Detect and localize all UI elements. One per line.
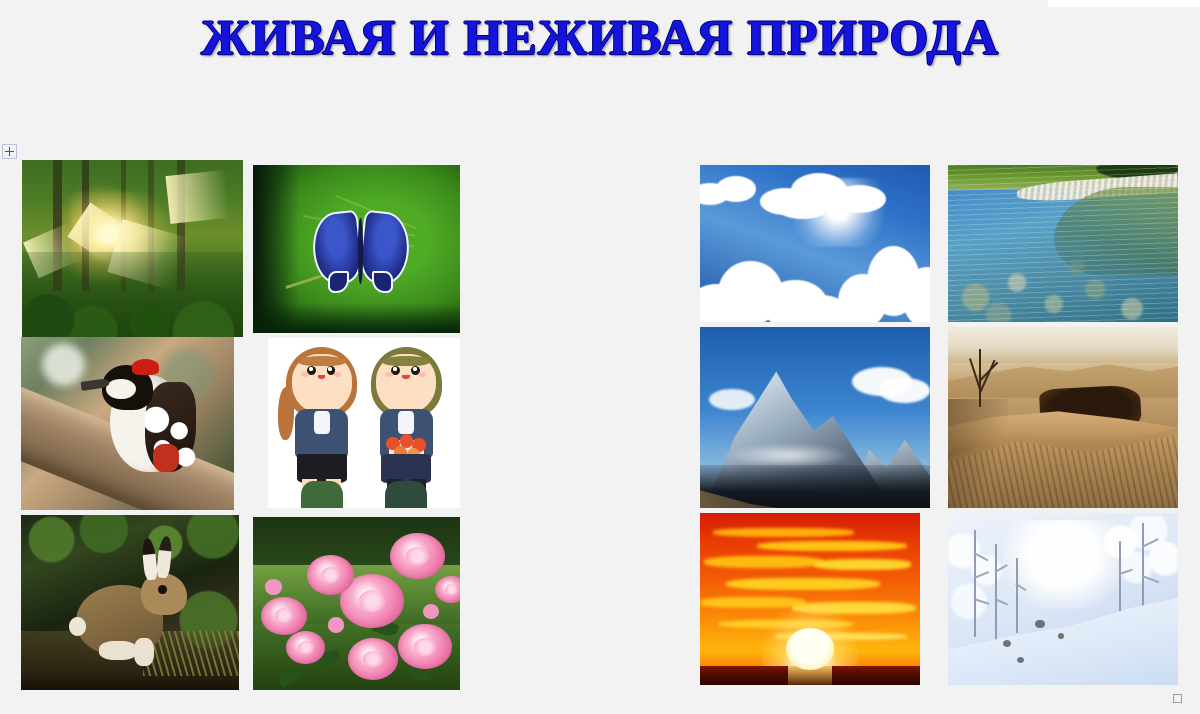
- picture-roses[interactable]: [253, 517, 460, 690]
- roses-artwork: [253, 517, 460, 690]
- picture-children[interactable]: [268, 338, 460, 508]
- cloud-group-bottom: [700, 253, 847, 322]
- boy-blush-right: [418, 372, 426, 377]
- cloud-puff: [778, 199, 827, 219]
- tree-trunk: [1016, 558, 1018, 634]
- sunset-cloud-band: [726, 578, 880, 590]
- hare-front-leg: [134, 638, 154, 666]
- girl-shoe-right: [310, 481, 342, 508]
- tree-branch: [1142, 575, 1160, 583]
- sunset-cloud-band: [757, 541, 907, 551]
- butterfly-shape: [313, 212, 408, 304]
- girl-face: [292, 354, 352, 413]
- boy-blush-left: [385, 372, 393, 377]
- girl-ponytail: [278, 387, 294, 440]
- boy-fringe: [382, 356, 430, 366]
- boy-trousers: [381, 454, 431, 482]
- dead-tree: [962, 349, 999, 407]
- river-artwork: [948, 165, 1178, 322]
- butterfly-hindwing-left: [328, 271, 349, 293]
- tree-trunk: [995, 544, 997, 640]
- dark-spot: [1058, 633, 1064, 638]
- girl-mouth: [318, 375, 326, 379]
- butterfly-hindwing-right: [372, 271, 393, 293]
- page-title: ЖИВАЯ И НЕЖИВАЯ ПРИРОДА: [0, 8, 1200, 66]
- rose-bloom: [261, 597, 307, 635]
- boy-face: [376, 354, 436, 413]
- picture-hare[interactable]: [21, 515, 239, 690]
- cloud-group-top: [760, 171, 889, 221]
- boy-shoe-right: [395, 481, 427, 508]
- sunset-cloud-band: [704, 556, 823, 568]
- picture-winter[interactable]: [948, 513, 1178, 685]
- resize-square-icon[interactable]: [1173, 694, 1182, 703]
- forest-artwork: [22, 160, 243, 337]
- rose-leaf: [276, 664, 304, 688]
- rose-bud: [328, 617, 345, 633]
- winter-artwork: [948, 513, 1178, 685]
- picture-butterfly[interactable]: [253, 165, 460, 333]
- cloud-puff: [879, 378, 930, 403]
- picture-desert[interactable]: [948, 327, 1178, 508]
- sunset-artwork: [700, 513, 920, 685]
- hare-tail: [69, 617, 86, 636]
- hare-eye: [158, 585, 167, 594]
- girl-shirt: [314, 411, 330, 434]
- picture-sunset[interactable]: [700, 513, 920, 685]
- undergrowth: [22, 252, 243, 337]
- water-ripples: [948, 165, 1178, 322]
- mountain-artwork: [700, 327, 930, 508]
- bird-red-cap: [132, 359, 160, 375]
- cloud-group-right: [838, 240, 930, 322]
- rose-bloom: [307, 555, 355, 595]
- bare-tree: [1003, 558, 1031, 634]
- sky-artwork: [700, 165, 930, 322]
- rose-bloom: [398, 624, 452, 669]
- boy-mouth: [402, 375, 410, 379]
- butterfly-artwork: [253, 165, 460, 333]
- cloud-group-left: [700, 174, 760, 209]
- child-boy: [366, 347, 447, 503]
- bird-red-vent: [153, 444, 179, 472]
- children-artwork: [268, 338, 460, 508]
- girl-skirt: [297, 454, 347, 482]
- cloud-puff: [832, 185, 886, 213]
- move-plus-icon[interactable]: [2, 144, 17, 159]
- bird-cheek: [106, 379, 136, 400]
- picture-sky[interactable]: [700, 165, 930, 322]
- girl-fringe: [298, 356, 346, 366]
- girl-blush-right: [334, 372, 342, 377]
- picture-woodpecker[interactable]: [21, 337, 234, 510]
- cloud-puff: [716, 176, 756, 202]
- tree-branch: [1142, 538, 1159, 547]
- slide-top-strip: [1048, 0, 1200, 7]
- sand-shadow: [948, 399, 1008, 508]
- picture-mountain[interactable]: [700, 327, 930, 508]
- sun-ray: [165, 170, 229, 224]
- cloud-puff: [792, 295, 850, 322]
- desert-artwork: [948, 327, 1178, 508]
- leaf-shadow: [253, 303, 460, 333]
- sunset-cloud-band: [713, 528, 854, 537]
- picture-forest[interactable]: [22, 160, 243, 337]
- dark-spot: [1035, 620, 1044, 629]
- picture-river[interactable]: [948, 165, 1178, 322]
- sun-disc: [786, 628, 834, 669]
- girl-blush-left: [301, 372, 309, 377]
- rose-bud: [265, 579, 282, 595]
- cloud-puff: [709, 389, 755, 411]
- tree-trunk: [974, 530, 976, 637]
- sunset-cloud-band: [814, 559, 911, 569]
- hare-hind-leg: [99, 641, 136, 660]
- hare-artwork: [21, 515, 239, 690]
- woodpecker-artwork: [21, 337, 234, 510]
- rose-bloom: [348, 638, 398, 680]
- boy-shirt: [398, 411, 414, 434]
- child-girl: [281, 347, 362, 503]
- tree-branch: [980, 361, 999, 380]
